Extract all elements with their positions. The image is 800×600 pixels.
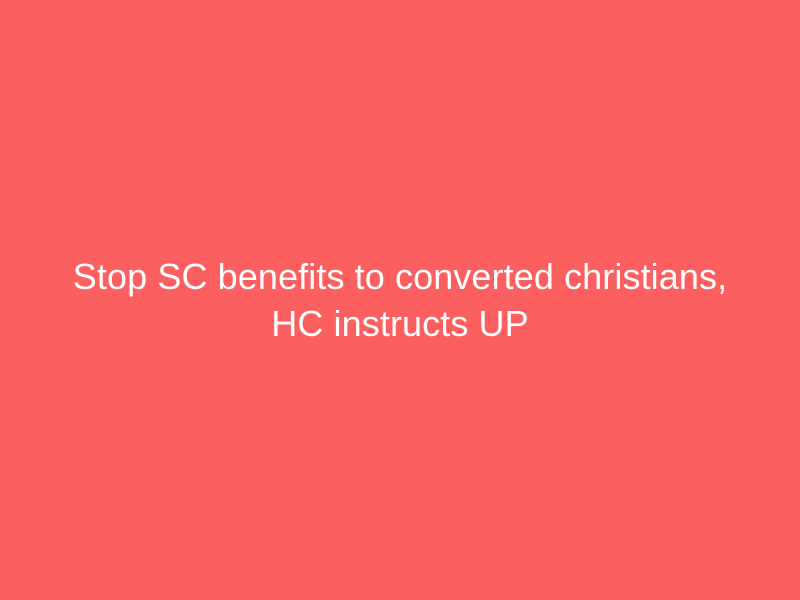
page-title: Stop SC benefits to converted christians… bbox=[65, 253, 735, 347]
headline-card: Stop SC benefits to converted christians… bbox=[0, 0, 800, 600]
headline-block: Stop SC benefits to converted christians… bbox=[55, 253, 745, 347]
